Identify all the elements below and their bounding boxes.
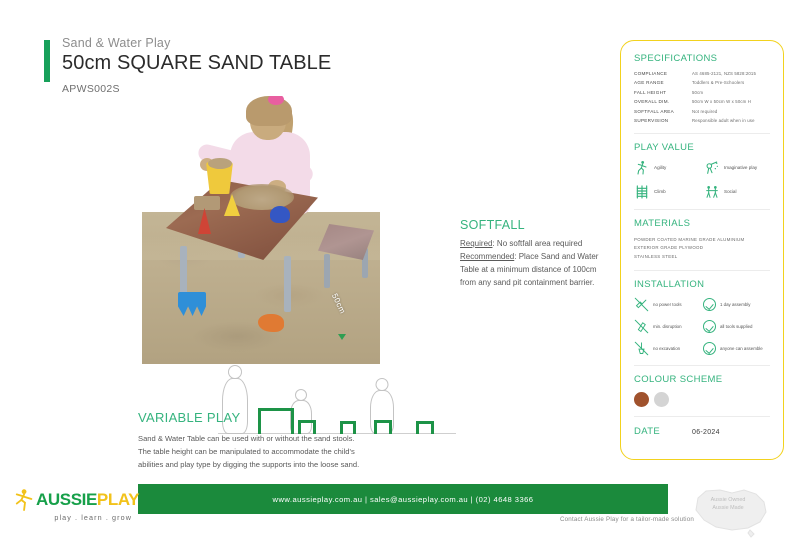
- variable-play-section: VARIABLE PLAY Sand & Water Table can be …: [138, 410, 378, 471]
- play-value-label-climb: Climb: [654, 189, 666, 195]
- date-value: 06-2024: [692, 429, 720, 436]
- product-sku: APWS002S: [62, 83, 331, 95]
- installation-item-no-power-tools: no power tools: [634, 297, 701, 312]
- softfall-required-label: Required: [460, 239, 492, 248]
- installation-item-anyone-can-assemble: anyone can assemble: [703, 341, 770, 356]
- softfall-required: Required: No softfall area required: [460, 238, 602, 251]
- installation-heading: INSTALLATION: [634, 279, 770, 290]
- spec-label-compliance: COMPLIANCE: [634, 71, 692, 77]
- play-value-label-social: Social: [724, 189, 737, 195]
- orange-shell-toy: [258, 314, 284, 332]
- colour-scheme-heading: COLOUR SCHEME: [634, 374, 770, 385]
- installation-item-min-disruption: min. disruption: [634, 319, 701, 334]
- blue-rake-toy: [178, 292, 206, 316]
- spec-row-overall-dim: OVERALL DIM. 50cm W x 50cm W x 50cm H: [634, 99, 770, 105]
- spec-label-softfall-area: SOFTFALL AREA: [634, 109, 692, 115]
- installation-label-all-tools-supplied: all tools supplied: [720, 324, 752, 330]
- spec-label-supervision: SUPERVISION: [634, 118, 692, 124]
- spec-value-age-range: Toddlers & Pre-Schoolers: [692, 80, 744, 86]
- date-label: DATE: [634, 426, 692, 437]
- check-icon: [703, 320, 716, 333]
- play-value-label-imaginative-play: Imaginative play: [724, 165, 757, 171]
- softfall-required-text: : No softfall area required: [492, 239, 582, 248]
- divider-2: [634, 209, 770, 210]
- climb-icon: [634, 184, 650, 200]
- no-excavation-icon: [634, 341, 649, 356]
- agility-icon: [634, 160, 650, 176]
- spec-label-age-range: AGE RANGE: [634, 80, 692, 86]
- installation-item-1-day-assembly: 1 day assembly: [703, 297, 770, 312]
- play-value-heading: PLAY VALUE: [634, 142, 770, 153]
- softfall-section: SOFTFALL Required: No softfall area requ…: [460, 218, 602, 290]
- table-leg-front-right: [284, 256, 291, 312]
- header-accent-bar: [44, 40, 50, 82]
- softfall-recommended-label: Recommended: [460, 252, 514, 261]
- spec-row-compliance: COMPLIANCE AS 4685-2121, NZS 5828:2015: [634, 71, 770, 77]
- line-art-child-2-head: [295, 389, 307, 401]
- material-line-3: STAINLESS STEEL: [634, 253, 770, 261]
- badge-text: Aussie Owned Aussie Made: [700, 496, 756, 512]
- product-photo: 50cm: [142, 96, 380, 364]
- spec-value-fall-height: 50cm: [692, 90, 703, 96]
- divider-1: [634, 133, 770, 134]
- badge-line-2: Aussie Made: [700, 504, 756, 512]
- dimension-arrow-icon: [338, 334, 346, 340]
- variable-play-line-1: Sand & Water Table can be used with or w…: [138, 432, 378, 445]
- installation-label-min-disruption: min. disruption: [653, 324, 682, 330]
- aussie-play-logo: AUSSIEPLAY play . learn . grow: [14, 488, 134, 522]
- no-power-tools-icon: [634, 297, 649, 312]
- logo-secondary-text: PLAY: [97, 490, 139, 509]
- specifications-panel: SPECIFICATIONS COMPLIANCE AS 4685-2121, …: [620, 40, 784, 460]
- installation-label-1-day-assembly: 1 day assembly: [720, 302, 751, 308]
- contact-bar: www.aussieplay.com.au | sales@aussieplay…: [138, 484, 668, 514]
- material-line-2: EXTERIOR GRADE PLYWOOD: [634, 244, 770, 252]
- tailor-made-text: Contact Aussie Play for a tailor-made so…: [560, 516, 694, 523]
- divider-4: [634, 365, 770, 366]
- softfall-heading: SOFTFALL: [460, 218, 602, 232]
- installation-label-anyone-can-assemble: anyone can assemble: [720, 346, 763, 352]
- min-disruption-icon: [634, 319, 649, 334]
- installation-item-no-excavation: no excavation: [634, 341, 701, 356]
- date-row: DATE 06-2024: [634, 426, 770, 437]
- badge-line-1: Aussie Owned: [700, 496, 756, 504]
- installation-label-no-excavation: no excavation: [653, 346, 680, 352]
- play-value-item-agility: Agility: [634, 160, 700, 176]
- softfall-recommended: Recommended: Place Sand and Water Table …: [460, 251, 602, 290]
- product-category: Sand & Water Play: [62, 36, 331, 50]
- variable-play-line-2: The table height can be manipulated to a…: [138, 445, 378, 471]
- bucket-sand: [208, 158, 232, 169]
- spec-row-supervision: SUPERVISION Responsible adult when in us…: [634, 118, 770, 124]
- logo-primary-text: AUSSIE: [36, 490, 97, 509]
- divider-3: [634, 270, 770, 271]
- imaginative-play-icon: [704, 160, 720, 176]
- sand-mould-toy: [194, 196, 220, 210]
- check-icon: [703, 298, 716, 311]
- spec-value-compliance: AS 4685-2121, NZS 5828:2015: [692, 71, 756, 77]
- spec-row-softfall-area: SOFTFALL AREA Not required: [634, 109, 770, 115]
- material-line-1: POWDER COATED MARINE GRADE ALUMINIUM: [634, 236, 770, 244]
- line-art-child-3-head: [376, 378, 389, 391]
- spec-row-age-range: AGE RANGE Toddlers & Pre-Schoolers: [634, 80, 770, 86]
- page-header: Sand & Water Play 50cm SQUARE SAND TABLE…: [44, 36, 331, 95]
- colour-swatch-grey: [654, 392, 669, 407]
- spec-row-fall-height: FALL HEIGHT 50cm: [634, 90, 770, 96]
- social-icon: [704, 184, 720, 200]
- variable-play-heading: VARIABLE PLAY: [138, 410, 378, 425]
- stool-leg-left: [324, 254, 330, 288]
- installation-label-no-power-tools: no power tools: [653, 302, 682, 308]
- logo-tagline: play . learn . grow: [14, 513, 134, 522]
- running-figure-icon: [14, 488, 36, 512]
- aussie-owned-badge: Aussie Owned Aussie Made: [676, 482, 784, 538]
- play-value-item-social: Social: [704, 184, 770, 200]
- play-value-item-climb: Climb: [634, 184, 700, 200]
- blue-star-toy: [270, 206, 290, 223]
- play-value-label-agility: Agility: [654, 165, 666, 171]
- contact-details: www.aussieplay.com.au | sales@aussieplay…: [273, 495, 534, 504]
- page-title: 50cm SQUARE SAND TABLE: [62, 52, 331, 75]
- green-stool-4: [416, 421, 434, 434]
- spec-label-fall-height: FALL HEIGHT: [634, 90, 692, 96]
- play-value-item-imaginative-play: Imaginative play: [704, 160, 770, 176]
- colour-swatch-brown: [634, 392, 649, 407]
- materials-heading: MATERIALS: [634, 218, 770, 229]
- spec-value-supervision: Responsible adult when in use: [692, 118, 755, 124]
- spec-value-overall-dim: 50cm W x 50cm W x 50cm H: [692, 99, 751, 105]
- line-art-child-1-head: [228, 365, 242, 379]
- specifications-heading: SPECIFICATIONS: [634, 53, 770, 64]
- spec-value-softfall-area: Not required: [692, 109, 717, 115]
- divider-5: [634, 416, 770, 417]
- installation-item-all-tools-supplied: all tools supplied: [703, 319, 770, 334]
- product-spec-sheet: Sand & Water Play 50cm SQUARE SAND TABLE…: [0, 0, 800, 552]
- check-icon: [703, 342, 716, 355]
- spec-label-overall-dim: OVERALL DIM.: [634, 99, 692, 105]
